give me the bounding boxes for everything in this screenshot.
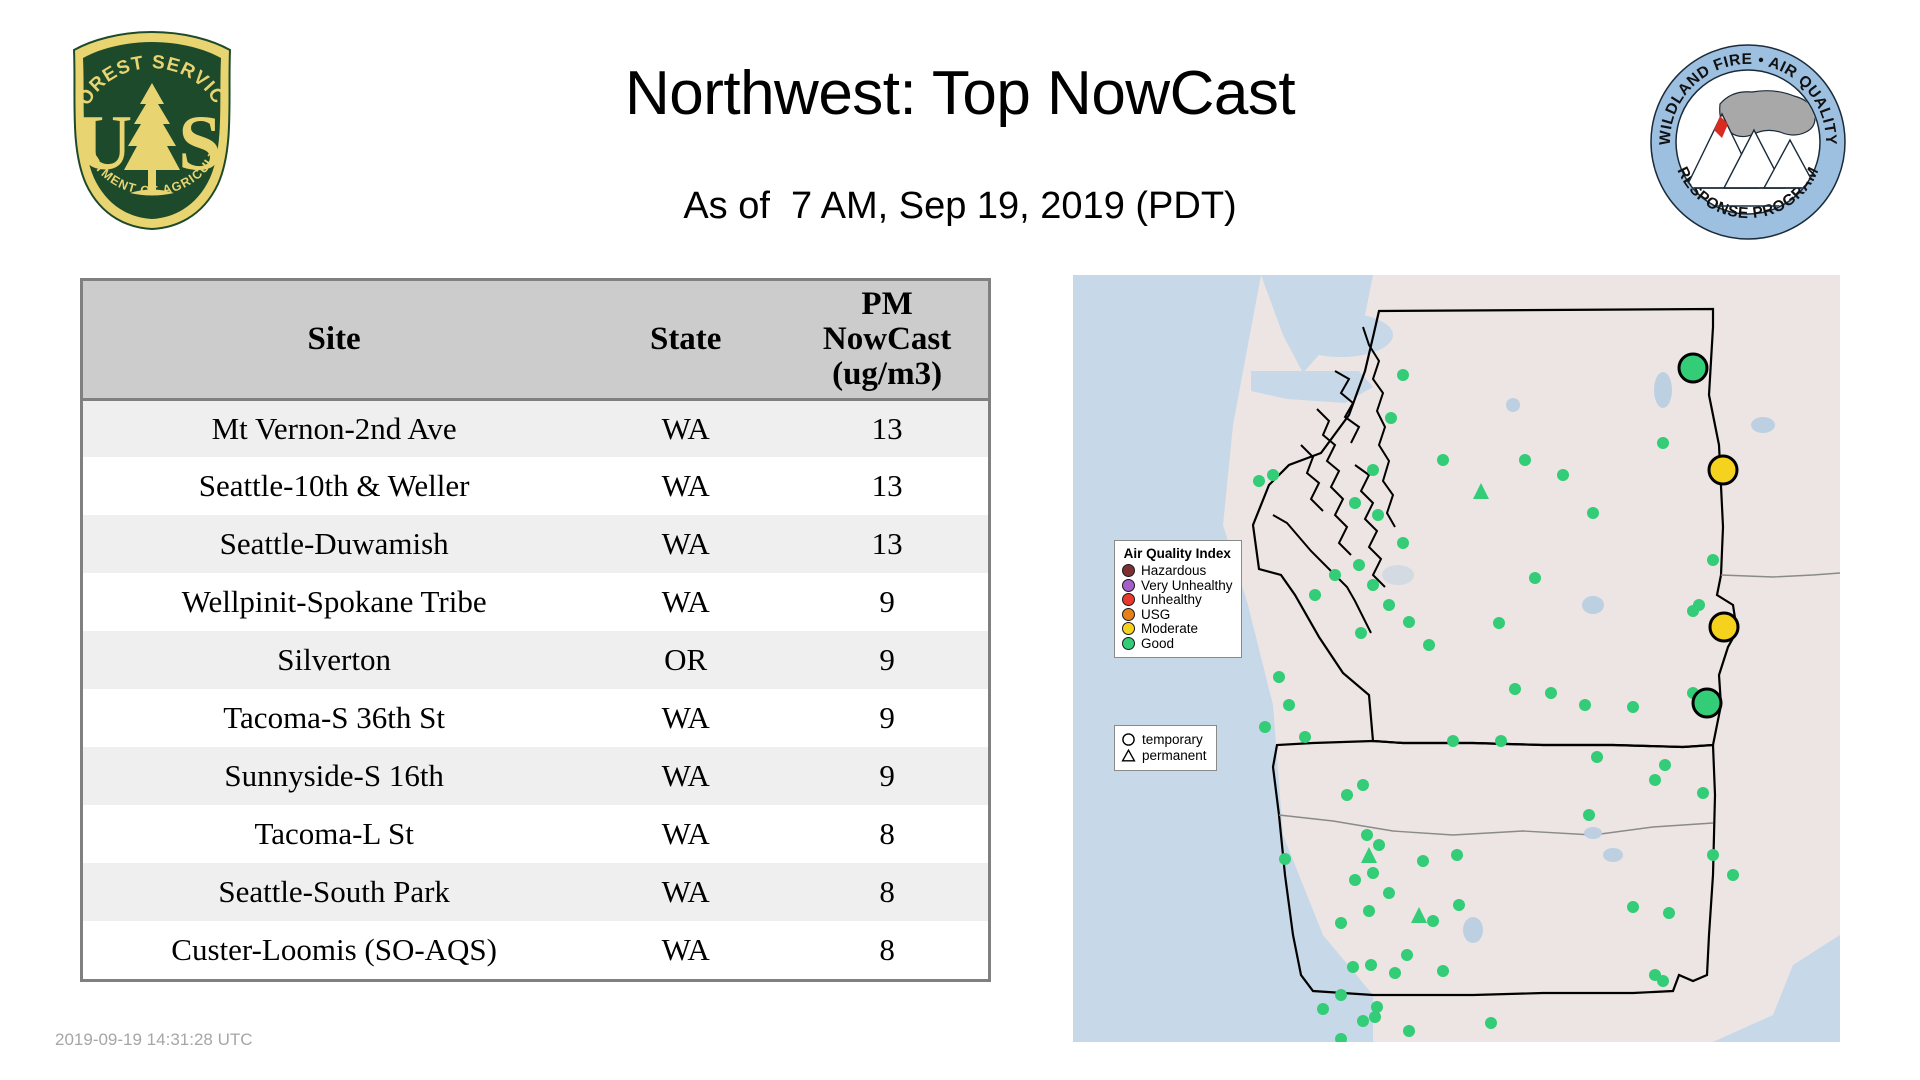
column-header-state[interactable]: State [585,281,786,399]
aqi-legend-row: Very Unhealthy [1122,579,1233,593]
aqi-legend-row: USG [1122,608,1233,622]
cell-state: WA [585,921,786,979]
pm-header-line2: NowCast [823,321,951,357]
cell-site: Tacoma-L St [83,805,585,863]
cell-pm: 9 [786,747,988,805]
map-graphic [1073,275,1840,1042]
table-row[interactable]: SilvertonOR9 [83,631,988,689]
column-header-pm-nowcast[interactable]: PM NowCast (ug/m3) [786,281,988,399]
table-header-row: Site State PM NowCast (ug/m3) [83,281,988,399]
cell-site: Tacoma-S 36th St [83,689,585,747]
nowcast-table-container: Site State PM NowCast (ug/m3) Mt Vernon-… [80,278,991,982]
table-row[interactable]: Seattle-10th & WellerWA13 [83,457,988,515]
table-row[interactable]: Tacoma-L StWA8 [83,805,988,863]
symbol-legend: temporary permanent [1114,725,1217,771]
cell-pm: 13 [786,457,988,515]
aqi-legend-label: Unhealthy [1141,593,1202,607]
cell-site: Custer-Loomis (SO-AQS) [83,921,585,979]
top-nowcast-site-marker[interactable] [1693,689,1721,717]
aqi-legend-row: Good [1122,637,1233,651]
svg-text:U: U [76,99,132,186]
page-subtitle: As of 7 AM, Sep 19, 2019 (PDT) [360,185,1560,228]
cell-pm: 9 [786,689,988,747]
cell-state: WA [585,457,786,515]
aqi-legend-label: Moderate [1141,622,1198,636]
aqi-swatch-icon [1122,593,1135,606]
cell-state: WA [585,515,786,573]
slide-root: FOREST SERVICE DEPARTMENT OF AGRICULTURE… [0,0,1920,1080]
symbol-label-temporary: temporary [1142,733,1203,747]
cell-site: Seattle-South Park [83,863,585,921]
cell-state: WA [585,573,786,631]
table-row[interactable]: Mt Vernon-2nd AveWA13 [83,399,988,457]
aqi-legend-items: HazardousVery UnhealthyUnhealthyUSGModer… [1122,564,1233,650]
cell-pm: 8 [786,805,988,863]
cell-state: WA [585,747,786,805]
table-row[interactable]: Seattle-DuwamishWA13 [83,515,988,573]
aqi-legend-label: USG [1141,608,1170,622]
symbol-legend-row-temporary: temporary [1121,732,1207,747]
aqi-swatch-icon [1122,579,1135,592]
cell-state: WA [585,689,786,747]
cell-state: OR [585,631,786,689]
cell-site: Mt Vernon-2nd Ave [83,399,585,457]
aqi-legend-label: Hazardous [1141,564,1206,578]
aqi-swatch-icon [1122,637,1135,650]
circle-icon [1121,732,1136,747]
table-row[interactable]: Custer-Loomis (SO-AQS)WA8 [83,921,988,979]
cell-pm: 13 [786,399,988,457]
aqi-swatch-icon [1122,608,1135,621]
cell-pm: 9 [786,631,988,689]
cell-state: WA [585,399,786,457]
cell-state: WA [585,863,786,921]
page-title: Northwest: Top NowCast [360,58,1560,129]
cell-site: Sunnyside-S 16th [83,747,585,805]
svg-text:S: S [178,99,221,186]
table-row[interactable]: Sunnyside-S 16thWA9 [83,747,988,805]
table-row[interactable]: Tacoma-S 36th StWA9 [83,689,988,747]
top-nowcast-site-marker[interactable] [1709,456,1737,484]
top-nowcast-site-marker[interactable] [1710,613,1738,641]
cell-pm: 8 [786,863,988,921]
aqi-legend-row: Hazardous [1122,564,1233,578]
column-header-site[interactable]: Site [83,281,585,399]
generated-timestamp: 2019-09-19 14:31:28 UTC [55,1030,253,1050]
aqi-swatch-icon [1122,622,1135,635]
pm-header-line1: PM [861,286,912,322]
aqi-legend-title: Air Quality Index [1122,546,1233,561]
symbol-legend-row-permanent: permanent [1121,748,1207,763]
table-body: Mt Vernon-2nd AveWA13Seattle-10th & Well… [83,399,988,979]
pm-header-line3: (ug/m3) [832,356,942,392]
aqi-legend-label: Good [1141,637,1174,651]
cell-pm: 9 [786,573,988,631]
table-row[interactable]: Wellpinit-Spokane TribeWA9 [83,573,988,631]
us-forest-service-logo: FOREST SERVICE DEPARTMENT OF AGRICULTURE… [52,28,252,233]
aqi-legend: Air Quality Index HazardousVery Unhealth… [1114,540,1242,658]
cell-state: WA [585,805,786,863]
table-head: Site State PM NowCast (ug/m3) [83,281,988,399]
aqi-legend-row: Unhealthy [1122,593,1233,607]
air-quality-map[interactable]: Air Quality Index HazardousVery Unhealth… [1073,275,1840,1042]
cell-site: Silverton [83,631,585,689]
aqi-swatch-icon [1122,564,1135,577]
triangle-icon [1121,748,1136,763]
symbol-label-permanent: permanent [1142,749,1207,763]
cell-pm: 13 [786,515,988,573]
cell-site: Seattle-10th & Weller [83,457,585,515]
cell-site: Seattle-Duwamish [83,515,585,573]
table-row[interactable]: Seattle-South ParkWA8 [83,863,988,921]
cell-site: Wellpinit-Spokane Tribe [83,573,585,631]
nowcast-table: Site State PM NowCast (ug/m3) Mt Vernon-… [83,281,988,979]
wildland-fire-air-quality-logo: WILDLAND FIRE • AIR QUALITY RESPONSE PRO… [1648,42,1848,242]
aqi-legend-label: Very Unhealthy [1141,579,1233,593]
cell-pm: 8 [786,921,988,979]
top-nowcast-site-marker[interactable] [1679,354,1707,382]
aqi-legend-row: Moderate [1122,622,1233,636]
